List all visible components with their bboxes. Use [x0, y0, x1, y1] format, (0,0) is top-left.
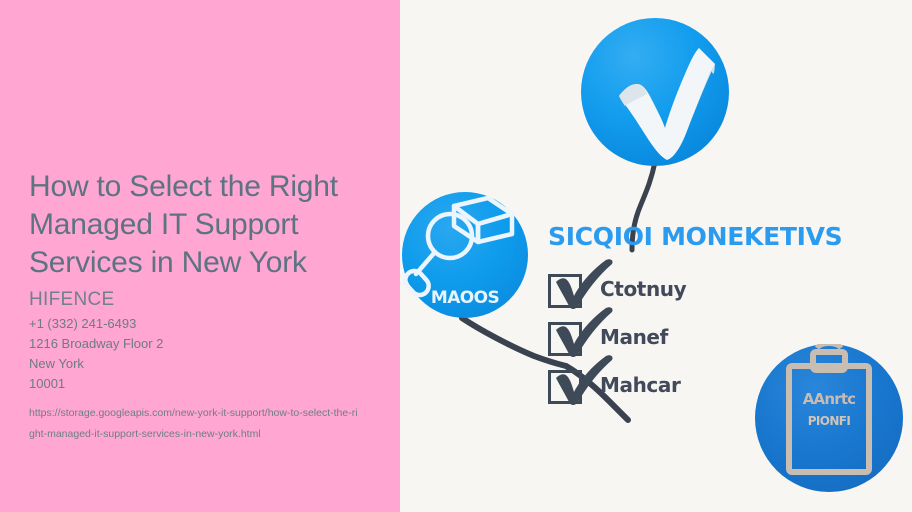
page-root: How to Select the Right Managed IT Suppo…: [0, 0, 912, 512]
postal-code: 10001: [29, 374, 379, 394]
checklist-item-label: Manef: [600, 325, 668, 349]
phone-number: +1 (332) 241-6493: [29, 314, 379, 334]
clipboard-label-primary: AAnrtc: [755, 390, 903, 408]
magnifier-label: MAOOS: [402, 288, 528, 308]
checklist-item-label: Ctotnuy: [600, 277, 686, 301]
info-panel: How to Select the Right Managed IT Suppo…: [0, 0, 400, 512]
illustration-heading: SICQIOI MONEKETIVS: [548, 222, 842, 251]
clipboard-label-secondary: PIONFI: [755, 414, 903, 428]
check-mark-icon: [581, 18, 729, 166]
city-name: New York: [29, 354, 379, 374]
page-title: How to Select the Right Managed IT Suppo…: [29, 168, 379, 282]
illustration-image: MAOOS SICQIOI MONEKETIVS Ctotnuy: [400, 0, 912, 512]
brand-name: HIFENCE: [29, 288, 379, 312]
info-panel-content: How to Select the Right Managed IT Suppo…: [29, 168, 379, 445]
source-url[interactable]: https://storage.googleapis.com/new-york-…: [29, 403, 359, 445]
checklist-item-label: Mahcar: [600, 373, 680, 397]
street-address: 1216 Broadway Floor 2: [29, 334, 379, 354]
illustration-panel: MAOOS SICQIOI MONEKETIVS Ctotnuy: [400, 0, 912, 512]
